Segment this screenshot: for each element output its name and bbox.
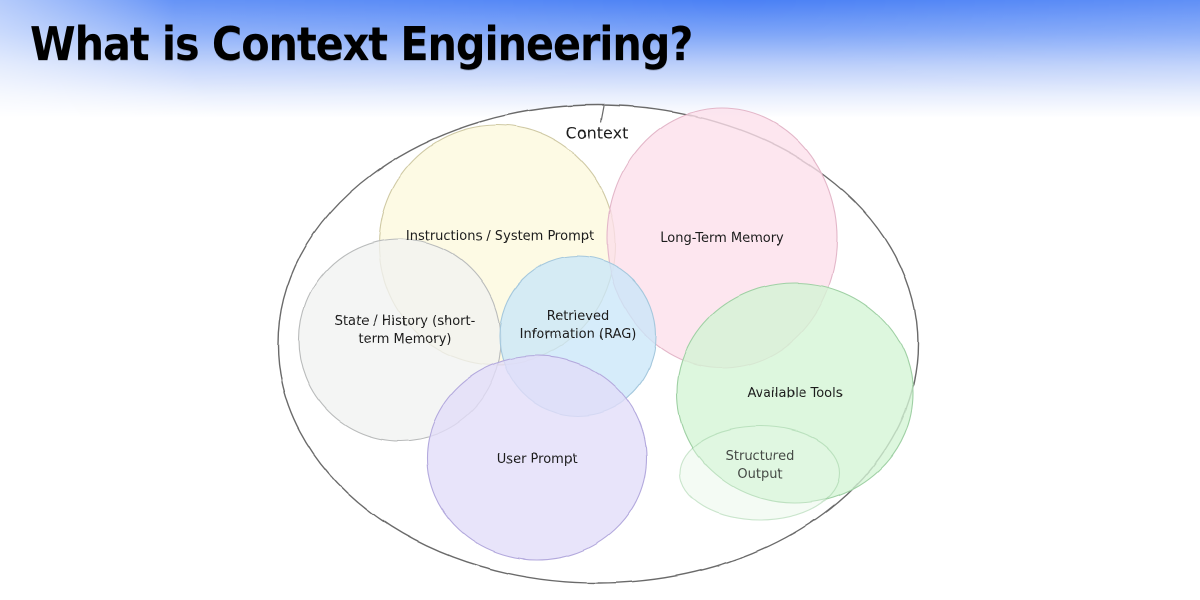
venn-label-line: Output (737, 467, 782, 482)
venn-label-line: Long-Term Memory (660, 231, 784, 246)
venn-label-user-prompt: User Prompt (497, 452, 577, 467)
venn-label-available-tools: Available Tools (748, 386, 843, 401)
venn-label-line: term Memory) (359, 332, 452, 347)
venn-label-line: Information (RAG) (520, 327, 637, 342)
context-venn-diagram: Instructions / System PromptLong-Term Me… (0, 0, 1200, 600)
venn-label-line: Instructions / System Prompt (406, 229, 594, 244)
venn-label-line: User Prompt (497, 452, 577, 467)
page-title: What is Context Engineering? (30, 14, 692, 74)
venn-label-instructions: Instructions / System Prompt (406, 229, 594, 244)
venn-label-line: State / History (short- (335, 314, 476, 329)
venn-label-long-term-memory: Long-Term Memory (660, 231, 784, 246)
context-container-label: Context (566, 124, 629, 143)
venn-label-line: Structured (726, 449, 795, 464)
venn-label-line: Available Tools (748, 386, 843, 401)
venn-label-line: Retrieved (547, 309, 609, 324)
